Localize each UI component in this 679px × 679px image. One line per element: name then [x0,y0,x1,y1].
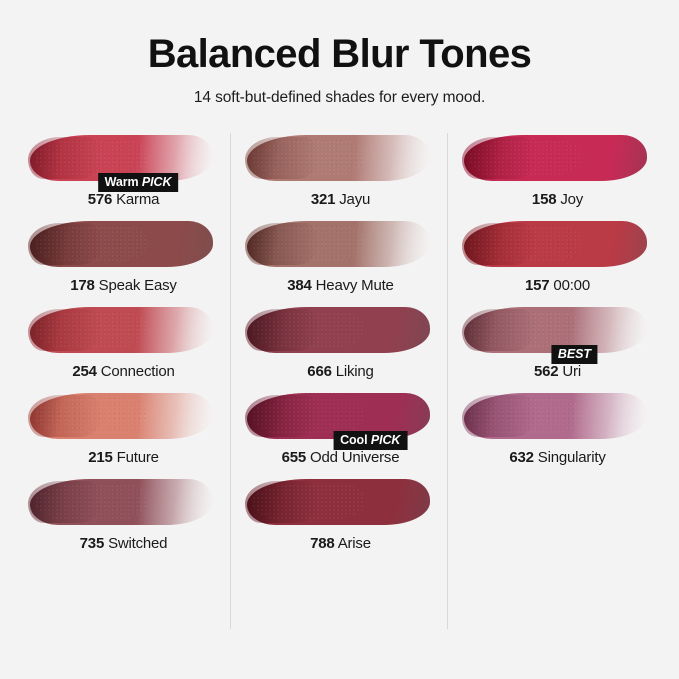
swatch-texture [35,140,149,176]
swatch-wrap [243,301,438,361]
shade-code: 655 [282,449,306,466]
swatch-wrap [243,473,438,533]
swatch-wrap: Warm PICK [26,129,221,189]
lipstick-swatch [247,307,430,353]
shade-item[interactable]: 788 Arise [231,473,448,552]
shade-name: Uri [562,363,581,380]
badge-warm-pick: Warm PICK [98,173,179,193]
shade-label: 666 Liking [243,363,438,380]
badge-best: BEST [551,345,598,365]
shade-label: 735 Switched [26,535,221,552]
shade-label: 158 Joy [460,191,655,208]
shade-name: Arise [338,535,371,552]
swatch-texture [35,312,149,348]
shade-label: 632 Singularity [460,449,655,466]
swatch-texture [252,484,366,520]
swatch-texture [252,140,366,176]
shade-label: 384 Heavy Mute [243,277,438,294]
shade-label: 562 Uri [460,363,655,380]
swatch-fade [572,393,649,439]
lipstick-swatch [464,135,647,181]
swatch-texture [469,226,583,262]
shade-code: 576 [88,191,112,208]
shade-name: Odd Universe [310,449,399,466]
shade-name: 00:00 [553,277,590,294]
shade-code: 254 [72,363,96,380]
shade-item[interactable]: 158 Joy [448,129,665,208]
shade-code: 562 [534,363,558,380]
shade-name: Future [117,449,159,466]
shade-item[interactable]: 178 Speak Easy [14,215,231,294]
shade-name: Heavy Mute [316,277,394,294]
shade-column-2: 321 Jayu384 Heavy Mute666 LikingCool PIC… [231,129,448,669]
lipstick-swatch [464,221,647,267]
lipstick-swatch [30,479,213,525]
shade-item[interactable]: 384 Heavy Mute [231,215,448,294]
shade-name: Connection [101,363,175,380]
swatch-texture [469,398,583,434]
shade-code: 321 [311,191,335,208]
shade-name: Singularity [538,449,606,466]
lipstick-swatch [30,221,213,267]
shade-label: 215 Future [26,449,221,466]
swatch-wrap [26,387,221,447]
page-title: Balanced Blur Tones [0,32,679,76]
shade-label: 178 Speak Easy [26,277,221,294]
shade-item[interactable]: 632 Singularity [448,387,665,466]
swatch-wrap [26,473,221,533]
shade-code: 384 [287,277,311,294]
swatch-wrap [26,215,221,275]
shade-name: Joy [560,191,583,208]
shade-item[interactable]: 157 00:00 [448,215,665,294]
swatch-wrap [460,215,655,275]
shade-code: 666 [307,363,331,380]
shade-grid: Warm PICK576 Karma178 Speak Easy254 Conn… [0,129,679,669]
swatch-wrap [243,215,438,275]
shade-column-3: 158 Joy157 00:00BEST562 Uri632 Singulari… [448,129,665,669]
shade-label: 655 Odd Universe [243,449,438,466]
swatch-fade [138,307,215,353]
shade-item[interactable]: 735 Switched [14,473,231,552]
swatch-wrap [460,129,655,189]
lipstick-swatch [464,393,647,439]
swatch-wrap [26,301,221,361]
swatch-fade [355,135,432,181]
swatch-texture [35,226,149,262]
page-subtitle: 14 soft-but-defined shades for every moo… [0,89,679,107]
lipstick-swatch [247,479,430,525]
swatch-texture [252,312,366,348]
swatch-wrap: BEST [460,301,655,361]
lipstick-swatch [30,307,213,353]
swatch-texture [35,484,149,520]
badge-text-bold: Cool [340,433,371,447]
shade-code: 215 [88,449,112,466]
badge-text-italic: PICK [371,433,400,447]
swatch-wrap: Cool PICK [243,387,438,447]
lipstick-swatch [30,393,213,439]
shade-code: 158 [532,191,556,208]
badge-cool-pick: Cool PICK [333,431,407,451]
swatch-texture [252,398,366,434]
swatch-wrap [243,129,438,189]
shade-item[interactable]: Warm PICK576 Karma [14,129,231,208]
shade-chart-page: Balanced Blur Tones 14 soft-but-defined … [0,0,679,679]
swatch-texture [469,312,583,348]
lipstick-swatch [247,221,430,267]
swatch-texture [35,398,149,434]
shade-item[interactable]: BEST562 Uri [448,301,665,380]
shade-item[interactable]: 666 Liking [231,301,448,380]
shade-code: 178 [70,277,94,294]
swatch-texture [252,226,366,262]
shade-code: 788 [310,535,334,552]
shade-code: 632 [509,449,533,466]
shade-item[interactable]: 254 Connection [14,301,231,380]
shade-name: Liking [336,363,374,380]
shade-item[interactable]: 215 Future [14,387,231,466]
shade-code: 735 [80,535,104,552]
shade-column-1: Warm PICK576 Karma178 Speak Easy254 Conn… [14,129,231,669]
shade-name: Jayu [339,191,370,208]
swatch-fade [138,393,215,439]
shade-name: Speak Easy [99,277,177,294]
swatch-wrap [460,387,655,447]
shade-label: 254 Connection [26,363,221,380]
swatch-texture [469,140,583,176]
shade-label: 576 Karma [26,191,221,208]
swatch-fade [355,221,432,267]
badge-text-bold: Warm [105,175,142,189]
shade-name: Switched [108,535,167,552]
badge-text-italic: PICK [142,175,171,189]
header: Balanced Blur Tones 14 soft-but-defined … [0,0,679,107]
lipstick-swatch [247,135,430,181]
shade-label: 321 Jayu [243,191,438,208]
shade-item[interactable]: 321 Jayu [231,129,448,208]
shade-label: 157 00:00 [460,277,655,294]
shade-name: Karma [116,191,159,208]
swatch-fade [138,479,215,525]
shade-item[interactable]: Cool PICK655 Odd Universe [231,387,448,466]
shade-label: 788 Arise [243,535,438,552]
shade-code: 157 [525,277,549,294]
badge-text-italic: BEST [558,347,591,361]
